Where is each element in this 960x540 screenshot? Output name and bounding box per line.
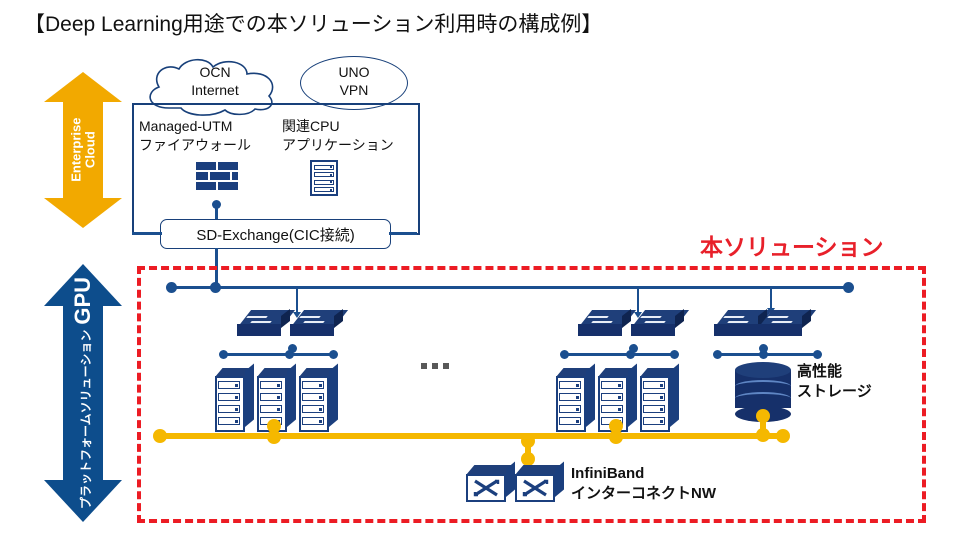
- server-tower-icon: [299, 368, 339, 434]
- interconnect-bus-endpoint-dot-left: [153, 429, 167, 443]
- storage-label-line1: 高性能: [797, 362, 872, 382]
- server-tower-icon: [556, 368, 596, 434]
- interconnect-bus-endpoint-dot-right: [776, 429, 790, 443]
- firewall-label: Managed-UTM ファイアウォール: [139, 117, 251, 155]
- application-label-line1: 関連CPU: [282, 117, 394, 136]
- infiniband-label: InfiniBand インターコネクトNW: [571, 464, 716, 505]
- cloud-uno-line2: VPN: [301, 82, 407, 100]
- cloud-uno-label: UNO VPN: [301, 64, 407, 99]
- interconnect-bus: [160, 433, 785, 439]
- infiniband-switch-icon: [515, 465, 563, 505]
- storage-bus-dot: [713, 350, 722, 359]
- cluster-left-bus-dot: [219, 350, 228, 359]
- firewall-label-line2: ファイアウォール: [139, 136, 251, 155]
- infiniband-uplink-dot: [521, 452, 535, 466]
- arrow-shaft: [63, 98, 103, 202]
- cloud-ocn-label: OCN Internet: [139, 64, 291, 99]
- ellipsis-dot: [421, 363, 427, 369]
- cloud-ocn-line2: Internet: [139, 82, 291, 100]
- ellipsis-dot: [443, 363, 449, 369]
- switch-icon: [631, 310, 683, 344]
- server-tower-icon: [215, 368, 255, 434]
- cluster-right-switch-bus: [564, 353, 674, 356]
- gpu-platform-arrow: プラットフォームソリューション GPU: [44, 264, 122, 522]
- core-network-bus: [170, 286, 848, 289]
- cloud-ocn-line1: OCN: [139, 64, 291, 82]
- server-rack-icon: [310, 160, 338, 196]
- core-bus-endpoint-dot-right: [843, 282, 854, 293]
- switch-icon: [290, 310, 342, 344]
- cluster-ellipsis: [421, 363, 449, 369]
- application-label: 関連CPU アプリケーション: [282, 117, 394, 155]
- solution-label: 本ソリューション: [700, 228, 884, 262]
- cluster-right-interconnect-dot: [609, 430, 623, 444]
- arrow-head-down-icon: [44, 198, 122, 228]
- storage-bus-dot: [759, 344, 768, 353]
- cluster-left-switch-bus: [223, 353, 333, 356]
- cloud-uno-line1: UNO: [301, 64, 407, 82]
- server-tower-icon: [640, 368, 680, 434]
- infiniband-label-line2: インターコネクトNW: [571, 484, 716, 504]
- infiniband-label-line1: InfiniBand: [571, 464, 716, 484]
- firewall-label-line1: Managed-UTM: [139, 117, 251, 136]
- storage-label: 高性能 ストレージ: [797, 362, 872, 401]
- infiniband-switch-icon: [466, 465, 514, 505]
- core-bus-junction-dot: [210, 282, 221, 293]
- infiniband-uplink-dot: [521, 434, 535, 448]
- cloud-uno: UNO VPN: [300, 56, 408, 110]
- firewall-connector-line: [215, 204, 218, 220]
- core-bus-endpoint-dot-left: [166, 282, 177, 293]
- database-cylinder-icon: [735, 362, 791, 414]
- firewall-brick-icon: [196, 162, 238, 192]
- cluster-right-bus-dot: [629, 344, 638, 353]
- storage-label-line2: ストレージ: [797, 382, 872, 402]
- switch-icon: [758, 310, 810, 344]
- storage-interconnect-dot: [756, 409, 770, 423]
- arrow-head-down-icon: [44, 480, 122, 522]
- switch-icon: [237, 310, 289, 344]
- arrow-shaft: [63, 304, 103, 482]
- page-title: 【Deep Learning用途での本ソリューション利用時の構成例】: [24, 8, 602, 38]
- arrow-head-up-icon: [44, 264, 122, 306]
- switch-icon: [578, 310, 630, 344]
- storage-interconnect-dot: [756, 428, 770, 442]
- storage-droplink: [770, 289, 772, 309]
- cluster-left-bus-dot: [288, 344, 297, 353]
- cluster-right-bus-dot: [560, 350, 569, 359]
- enterprise-cloud-arrow: Enterprise Cloud: [44, 72, 122, 228]
- sd-exchange-right-line: [389, 232, 417, 235]
- cluster-right-bus-dot: [670, 350, 679, 359]
- sd-exchange-left-line: [132, 232, 162, 235]
- cluster-left-interconnect-dot: [267, 430, 281, 444]
- ellipsis-dot: [432, 363, 438, 369]
- sd-exchange-box: SD-Exchange(CIC接続): [160, 219, 391, 249]
- cluster-left-bus-dot: [329, 350, 338, 359]
- application-label-line2: アプリケーション: [282, 136, 394, 155]
- storage-bus-dot: [813, 350, 822, 359]
